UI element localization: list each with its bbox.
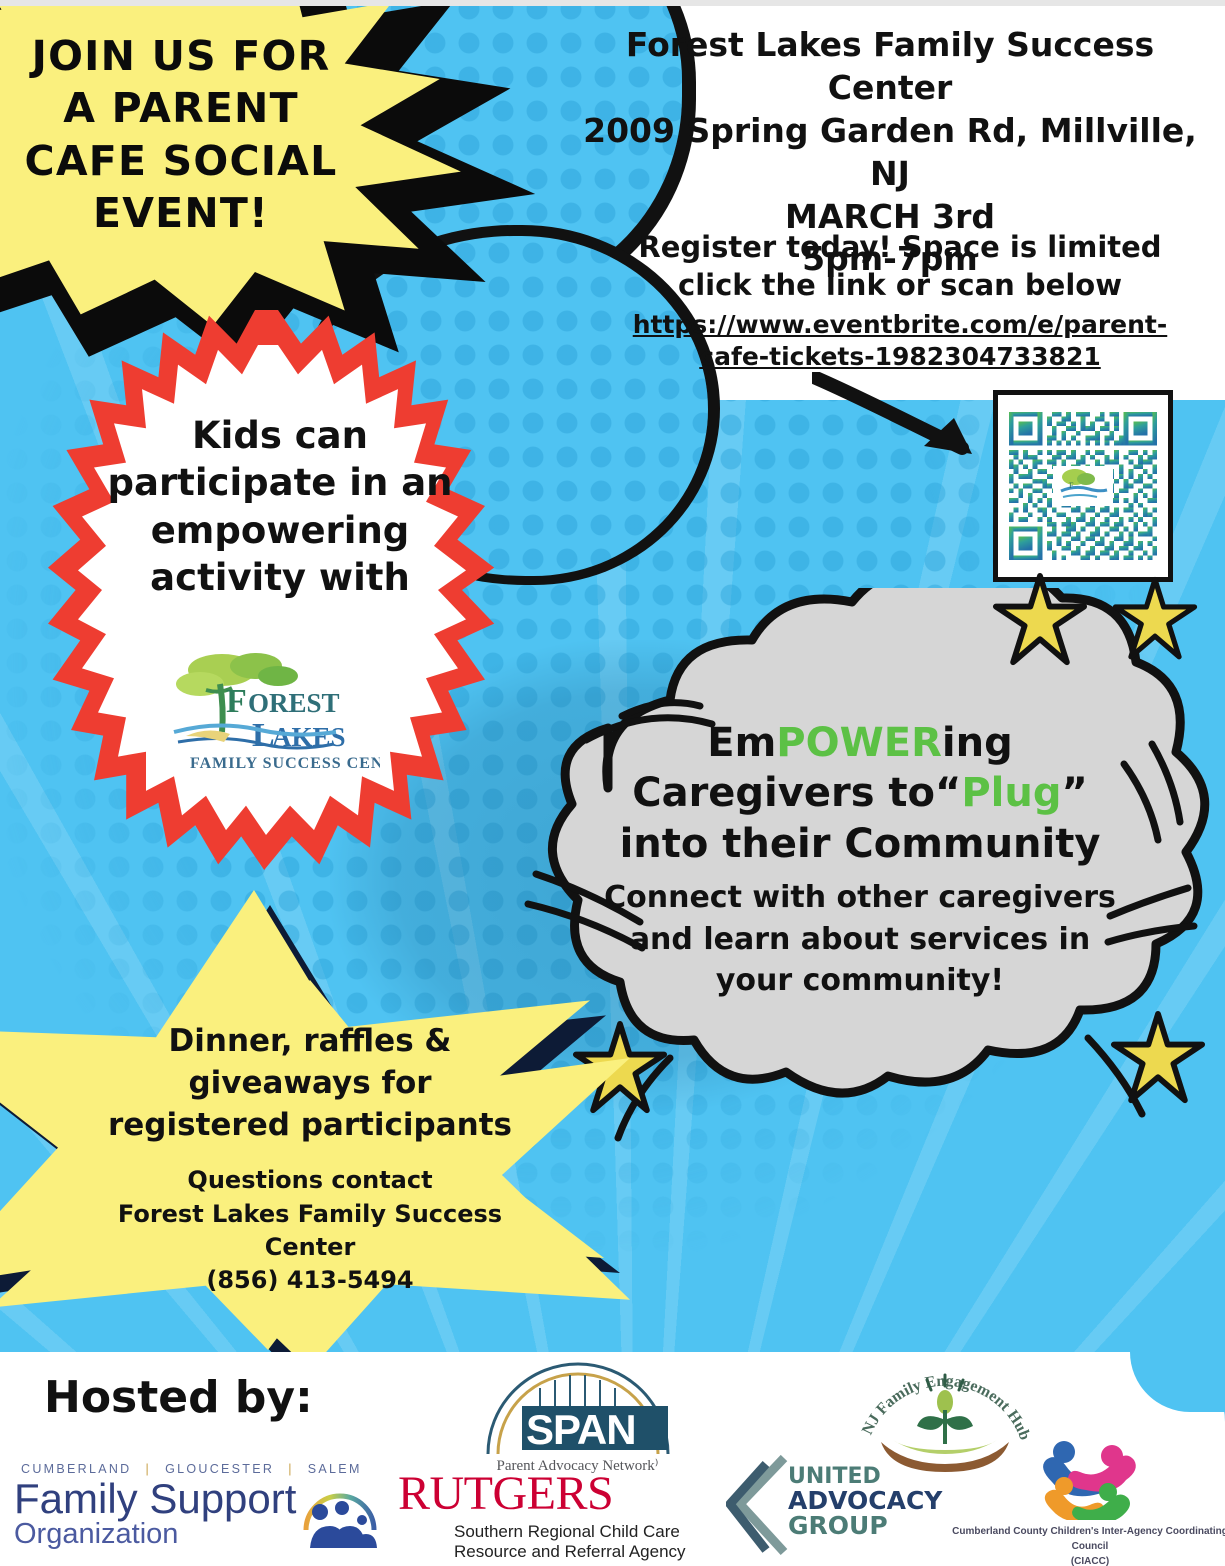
ciacc-logo [1030,1430,1150,1520]
fso-county-2: GLOUCESTER [158,1462,281,1476]
svg-text:F: F [226,683,246,720]
kids-line-4: activity with [100,554,460,601]
svg-text:OREST: OREST [248,688,340,718]
headline-line-3: CAFE SOCIAL [16,135,346,187]
svg-text:L: L [252,717,274,754]
qr-embedded-logo: F [1053,466,1113,506]
qr-code[interactable]: F [993,390,1173,582]
dinner-line-1: Dinner, raffles & [100,1020,520,1062]
headline-text: JOIN US FOR A PARENT CAFE SOCIAL EVENT! [16,30,346,240]
cloud-line-2a: Caregivers to [632,770,935,816]
rutgers-sub-2: Resource and Referral Agency [454,1542,698,1562]
forest-lakes-logo: F OREST L AKES FAMILY SUCCESS CENTER [160,640,380,780]
rutgers-name: RUTGERS [398,1470,698,1518]
empowering-text: EmPOWERing Caregivers to“Plug” into thei… [575,718,1145,1001]
ciacc-caption-1: Cumberland County Children's Inter-Agenc… [950,1524,1225,1554]
venue-address: 2009 Spring Garden Rd, Millville, NJ [560,110,1220,196]
kids-line-3: empowering [100,507,460,554]
ciacc-caption-2: (CIACC) [950,1554,1225,1566]
uag-line-2: ADVOCACY [788,1488,942,1513]
arrow-icon [812,372,1002,482]
cloud-line-2: Caregivers to“Plug” [575,768,1145,818]
register-line-1: Register today! Space is limited [600,228,1200,266]
star-icon-top-right [1112,576,1198,662]
span-logo: SPAN Parent Advocacy Network⁾ [470,1358,685,1475]
fso-divider-2: | [281,1462,301,1476]
registration-block: Register today! Space is limited click t… [600,228,1200,373]
fso-divider-1: | [139,1462,159,1476]
cloud-quote-close: ” [1061,770,1087,816]
uag-line-3: GROUP [788,1513,942,1538]
svg-text:FAMILY SUCCESS CENTER: FAMILY SUCCESS CENTER [190,755,380,772]
fso-people-icon [300,1472,380,1552]
hosted-by-label: Hosted by: [44,1372,313,1423]
top-edge-strip [0,0,1225,6]
fso-county-1: CUMBERLAND [14,1462,139,1476]
rutgers-sub: Southern Regional Child Care Resource an… [454,1522,698,1561]
headline-line-1: JOIN US FOR [16,30,346,82]
dinner-line-3: registered participants [100,1104,520,1146]
cloud-sub-1: Connect with other caregivers [575,877,1145,918]
star-icon-top-left [992,572,1088,668]
star-icon-bottom-right [1110,1010,1206,1106]
dinner-line-2: giveaways for [100,1062,520,1104]
cloud-line-1a: Em [707,720,776,766]
cloud-sub-2: and learn about services in [575,919,1145,960]
headline-line-4: EVENT! [16,187,346,239]
eventbrite-link[interactable]: https://www.eventbrite.com/e/parent-cafe… [600,309,1200,373]
kids-activity-text: Kids can participate in an empowering ac… [100,412,460,601]
dinner-text-block: Dinner, raffles & giveaways for register… [100,1020,520,1297]
cloud-line-2b: Plug [961,770,1061,816]
contact-phone: (856) 413-5494 [100,1264,520,1297]
cloud-line-3: into their Community [575,819,1145,869]
contact-line-2: Forest Lakes Family Success Center [100,1198,520,1264]
cloud-sub-3: your community! [575,960,1145,1001]
kids-line-1: Kids can [100,412,460,459]
register-line-2: click the link or scan below [600,266,1200,304]
qr-code-matrix: F [1004,401,1162,571]
svg-text:SPAN: SPAN [526,1406,636,1453]
venue-name: Forest Lakes Family Success Center [560,24,1220,110]
span-bridge-icon: SPAN [470,1358,685,1454]
rutgers-logo: RUTGERS Southern Regional Child Care Res… [398,1470,698,1561]
rutgers-sub-1: Southern Regional Child Care [454,1522,698,1542]
cloud-line-1c: ing [942,720,1013,766]
flyer-poster: JOIN US FOR A PARENT CAFE SOCIAL EVENT! … [0,0,1225,1566]
svg-text:F: F [1069,481,1074,490]
headline-line-2: A PARENT [16,82,346,134]
cloud-quote-open: “ [935,770,961,816]
contact-line-1: Questions contact [100,1164,520,1197]
ciacc-caption: Cumberland County Children's Inter-Agenc… [950,1524,1225,1566]
cloud-line-1: EmPOWERing [575,718,1145,768]
cloud-line-1b: POWER [776,720,942,766]
nj-family-engagement-hub-logo: NJ Family Engagement Hub [845,1356,1045,1486]
kids-line-2: participate in an [100,459,460,506]
